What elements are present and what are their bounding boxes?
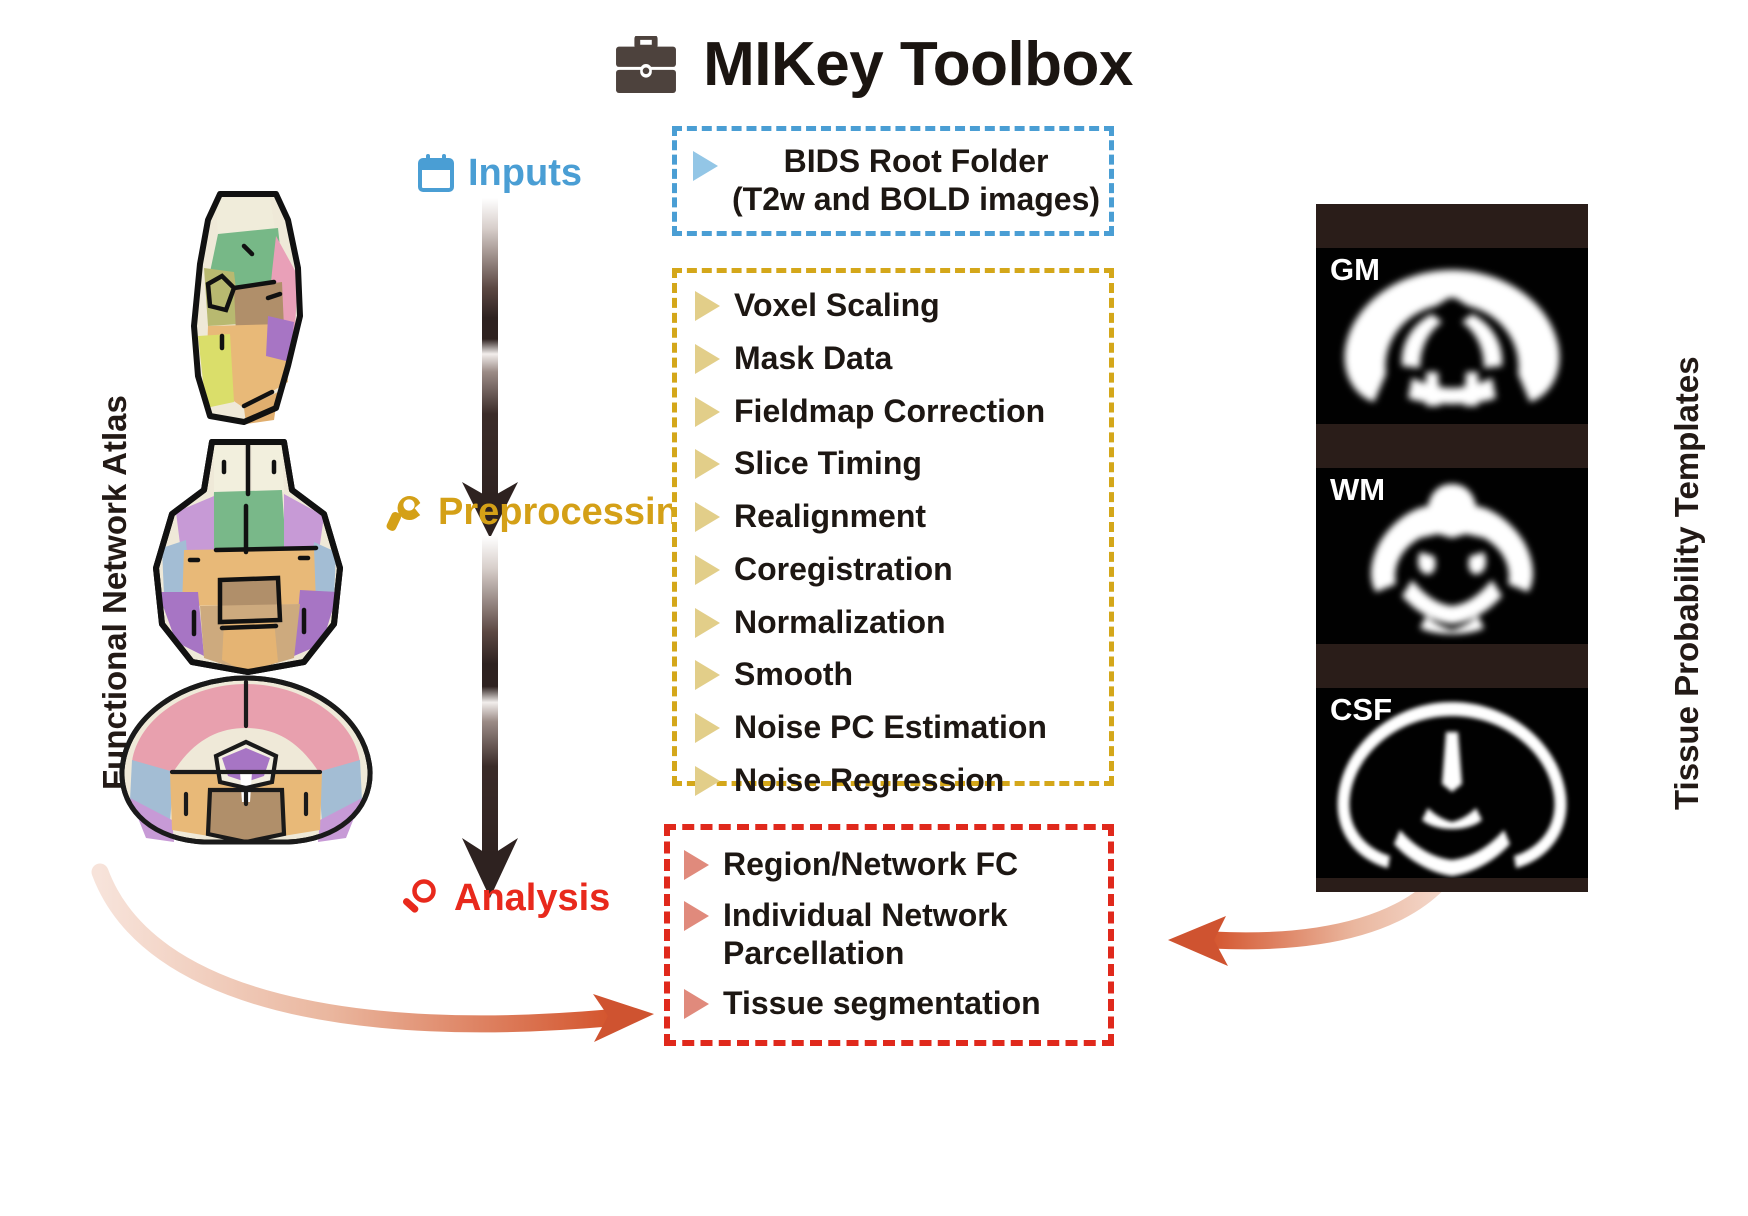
sagittal-atlas-slice (148, 176, 348, 426)
list-item[interactable]: Normalization (695, 604, 1109, 642)
inputs-list: BIDS Root Folder (T2w and BOLD images) (677, 131, 1109, 219)
list-item-label: Fieldmap Correction (734, 393, 1045, 431)
process-flow-arrow (454, 198, 526, 928)
triangle-bullet-icon (695, 660, 720, 690)
list-item-label: Region/Network FC (723, 846, 1018, 884)
list-item-label: Tissue segmentation (723, 985, 1041, 1023)
list-item[interactable]: Mask Data (695, 340, 1109, 378)
list-item-label: Normalization (734, 604, 946, 642)
list-item[interactable]: Voxel Scaling (695, 287, 1109, 325)
analysis-panel: Region/Network FC Individual Network Par… (664, 824, 1114, 1046)
stage-label-analysis: Analysis (400, 878, 610, 918)
inputs-panel: BIDS Root Folder (T2w and BOLD images) (672, 126, 1114, 236)
list-item-label: Noise Regression (734, 762, 1004, 800)
triangle-bullet-icon (695, 344, 720, 374)
tpm-caption: CSF (1330, 694, 1392, 725)
list-item-label: Mask Data (734, 340, 892, 378)
tpm-panel-csf: CSF (1316, 688, 1588, 878)
stage-label-text: Preprocessing (438, 493, 702, 531)
triangle-bullet-icon (695, 555, 720, 585)
list-item-label: Slice Timing (734, 445, 922, 483)
stage-label-text: Inputs (468, 154, 582, 192)
tpm-caption: WM (1330, 474, 1385, 505)
figure-title-bar: MIKey Toolbox (0, 34, 1748, 96)
page-title: MIKey Toolbox (703, 34, 1133, 96)
triangle-bullet-icon (684, 901, 709, 931)
list-item-line2: (T2w and BOLD images) (732, 181, 1100, 217)
list-item[interactable]: Individual Network Parcellation (684, 897, 1108, 973)
list-item[interactable]: Tissue segmentation (684, 985, 1108, 1023)
triangle-bullet-icon (695, 449, 720, 479)
list-item[interactable]: Slice Timing (695, 445, 1109, 483)
triangle-bullet-icon (695, 291, 720, 321)
triangle-bullet-icon (695, 766, 720, 796)
preprocessing-list: Voxel Scaling Mask Data Fieldmap Correct… (677, 273, 1109, 800)
stage-label-inputs: Inputs (418, 154, 582, 192)
list-item[interactable]: Realignment (695, 498, 1109, 536)
wrench-icon (384, 492, 424, 532)
tpm-panel-wm: WM (1316, 468, 1588, 644)
list-item[interactable]: Noise PC Estimation (695, 709, 1109, 747)
figure-canvas: MIKey Toolbox Functional Network Atlas T… (0, 0, 1748, 1216)
stage-label-text: Analysis (454, 879, 610, 917)
axial-atlas-slice (128, 428, 368, 676)
list-item-label: Voxel Scaling (734, 287, 940, 325)
triangle-bullet-icon (684, 850, 709, 880)
list-item-label: Coregistration (734, 551, 953, 589)
list-item-label: BIDS Root Folder (T2w and BOLD images) (732, 143, 1100, 219)
tpm-caption: GM (1330, 254, 1380, 285)
list-item[interactable]: Fieldmap Correction (695, 393, 1109, 431)
list-item[interactable]: BIDS Root Folder (T2w and BOLD images) (693, 143, 1109, 219)
briefcase-icon (615, 36, 677, 94)
analysis-list: Region/Network FC Individual Network Par… (670, 830, 1108, 1023)
magnifier-icon (400, 878, 440, 918)
calendar-icon (418, 154, 454, 192)
triangle-bullet-icon (695, 713, 720, 743)
triangle-bullet-icon (695, 502, 720, 532)
tissue-probability-panels: GM WM (1316, 204, 1588, 892)
list-item[interactable]: Smooth (695, 656, 1109, 694)
coronal-atlas-slice (112, 672, 380, 848)
triangle-bullet-icon (695, 608, 720, 638)
stage-label-preprocessing: Preprocessing (384, 492, 702, 532)
tpm-panel-gm: GM (1316, 248, 1588, 424)
list-item[interactable]: Coregistration (695, 551, 1109, 589)
right-axis-label: Tissue Probability Templates (1668, 356, 1706, 810)
list-item-line1: BIDS Root Folder (784, 143, 1049, 179)
triangle-bullet-icon (693, 151, 718, 181)
list-item-label: Smooth (734, 656, 853, 694)
tpm-panel-footer (1316, 878, 1588, 892)
list-item-label: Individual Network Parcellation (723, 897, 1108, 973)
preprocessing-panel: Voxel Scaling Mask Data Fieldmap Correct… (672, 268, 1114, 786)
list-item[interactable]: Region/Network FC (684, 846, 1108, 884)
list-item-label: Realignment (734, 498, 926, 536)
list-item-label: Noise PC Estimation (734, 709, 1047, 747)
triangle-bullet-icon (684, 989, 709, 1019)
triangle-bullet-icon (695, 397, 720, 427)
list-item[interactable]: Noise Regression (695, 762, 1109, 800)
